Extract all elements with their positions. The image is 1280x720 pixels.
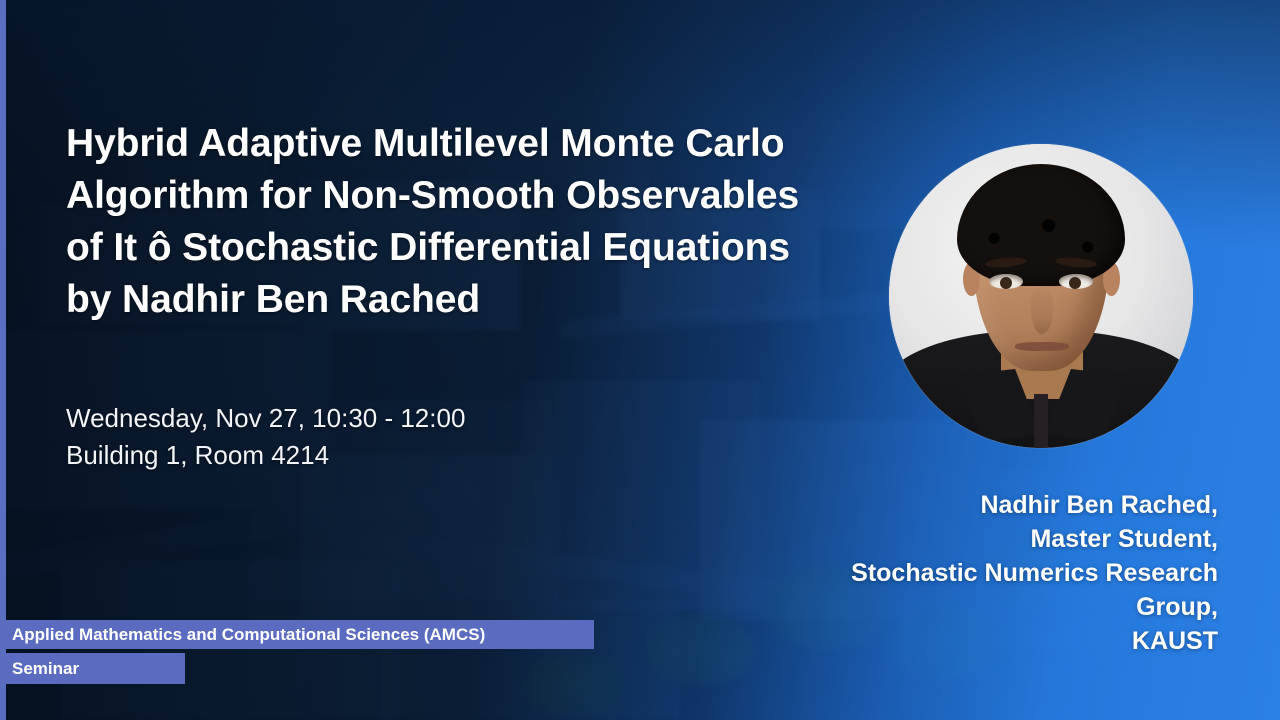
left-edge-accent-strip	[0, 0, 6, 720]
event-type-banner: Seminar	[0, 653, 185, 684]
speaker-institution: KAUST	[788, 624, 1218, 658]
speaker-portrait-avatar	[889, 144, 1193, 448]
seminar-announcement-slide: Hybrid Adaptive Multilevel Monte Carlo A…	[0, 0, 1280, 720]
department-banner: Applied Mathematics and Computational Sc…	[0, 620, 594, 649]
speaker-name: Nadhir Ben Rached,	[788, 488, 1218, 522]
event-datetime: Wednesday, Nov 27, 10:30 - 12:00	[66, 400, 766, 437]
event-type-banner-label: Seminar	[12, 659, 79, 679]
speaker-info: Nadhir Ben Rached, Master Student, Stoch…	[788, 488, 1218, 658]
speaker-role: Master Student,	[788, 522, 1218, 556]
speaker-group-line-2: Group,	[788, 590, 1218, 624]
event-details: Wednesday, Nov 27, 10:30 - 12:00 Buildin…	[66, 400, 766, 474]
department-banner-label: Applied Mathematics and Computational Sc…	[12, 625, 485, 645]
event-location: Building 1, Room 4214	[66, 437, 766, 474]
page-title: Hybrid Adaptive Multilevel Monte Carlo A…	[66, 118, 826, 326]
speaker-group-line-1: Stochastic Numerics Research	[788, 556, 1218, 590]
